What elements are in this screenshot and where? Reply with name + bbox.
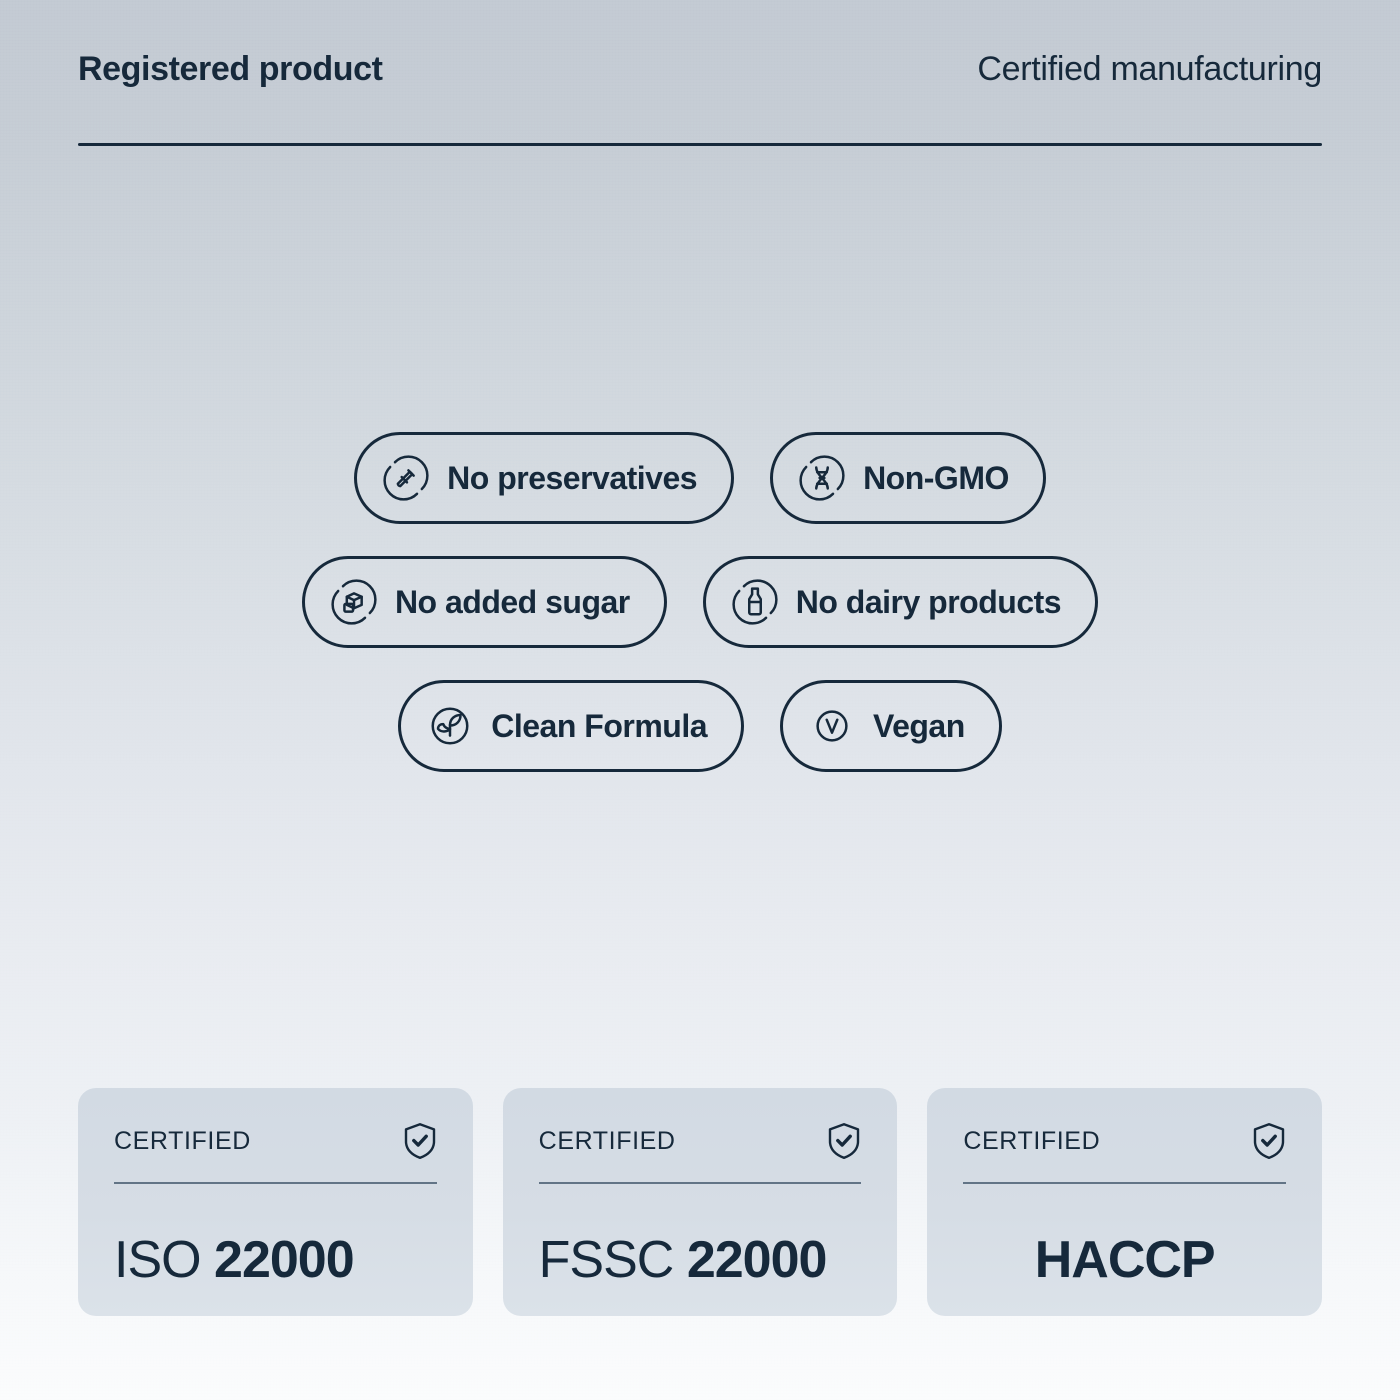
badge-row-3: Clean Formula Vegan bbox=[0, 680, 1400, 772]
card-header: CERTIFIED bbox=[114, 1122, 437, 1160]
page-title-registered-product: Registered product bbox=[78, 48, 383, 91]
badge-clean-formula[interactable]: Clean Formula bbox=[398, 680, 744, 772]
header-titles: Registered product Certified manufacturi… bbox=[78, 48, 1322, 91]
badge-label: Clean Formula bbox=[491, 708, 707, 745]
card-title-number: HACCP bbox=[1035, 1231, 1215, 1289]
badge-label: No dairy products bbox=[796, 584, 1061, 621]
page-title-certified-manufacturing: Certified manufacturing bbox=[977, 48, 1322, 91]
card-title: ISO 22000 bbox=[114, 1234, 437, 1286]
badge-label: No preservatives bbox=[447, 460, 697, 497]
header: Registered product Certified manufacturi… bbox=[78, 48, 1322, 146]
card-header: CERTIFIED bbox=[539, 1122, 862, 1160]
certification-card-fssc-22000[interactable]: CERTIFIED FSSC 22000 bbox=[503, 1088, 898, 1316]
certification-cards: CERTIFIED ISO 22000 CERTIFIED bbox=[78, 1088, 1322, 1316]
certification-panel: Registered product Certified manufacturi… bbox=[0, 0, 1400, 1400]
badge-non-gmo[interactable]: Non-GMO bbox=[770, 432, 1046, 524]
certification-card-iso-22000[interactable]: CERTIFIED ISO 22000 bbox=[78, 1088, 473, 1316]
shield-check-icon bbox=[1252, 1122, 1286, 1160]
card-kicker: CERTIFIED bbox=[539, 1127, 676, 1156]
no-preservatives-icon bbox=[383, 455, 429, 501]
card-title: HACCP bbox=[963, 1234, 1286, 1286]
header-divider bbox=[78, 143, 1322, 146]
badge-no-dairy-products[interactable]: No dairy products bbox=[703, 556, 1098, 648]
badge-label: No added sugar bbox=[395, 584, 630, 621]
no-dairy-bottle-icon bbox=[732, 579, 778, 625]
card-kicker: CERTIFIED bbox=[114, 1127, 251, 1156]
card-header: CERTIFIED bbox=[963, 1122, 1286, 1160]
shield-check-icon bbox=[827, 1122, 861, 1160]
leaf-sprout-icon bbox=[427, 703, 473, 749]
vegan-v-icon bbox=[809, 703, 855, 749]
badge-no-preservatives[interactable]: No preservatives bbox=[354, 432, 734, 524]
badge-vegan[interactable]: Vegan bbox=[780, 680, 1002, 772]
shield-check-icon bbox=[403, 1122, 437, 1160]
card-title-prefix: ISO bbox=[114, 1231, 214, 1289]
non-gmo-dna-icon bbox=[799, 455, 845, 501]
card-divider bbox=[963, 1182, 1286, 1184]
badge-label: Vegan bbox=[873, 708, 965, 745]
attribute-badges: No preservatives Non-GMO bbox=[0, 432, 1400, 772]
badge-no-added-sugar[interactable]: No added sugar bbox=[302, 556, 667, 648]
badge-row-2: No added sugar No dairy products bbox=[0, 556, 1400, 648]
card-divider bbox=[539, 1182, 862, 1184]
certification-card-haccp[interactable]: CERTIFIED HACCP bbox=[927, 1088, 1322, 1316]
badge-label: Non-GMO bbox=[863, 460, 1009, 497]
badge-row-1: No preservatives Non-GMO bbox=[0, 432, 1400, 524]
card-title-number: 22000 bbox=[687, 1231, 827, 1289]
card-title-prefix: FSSC bbox=[539, 1231, 687, 1289]
card-kicker: CERTIFIED bbox=[963, 1127, 1100, 1156]
card-title: FSSC 22000 bbox=[539, 1234, 862, 1286]
no-added-sugar-icon bbox=[331, 579, 377, 625]
card-divider bbox=[114, 1182, 437, 1184]
card-title-number: 22000 bbox=[214, 1231, 354, 1289]
